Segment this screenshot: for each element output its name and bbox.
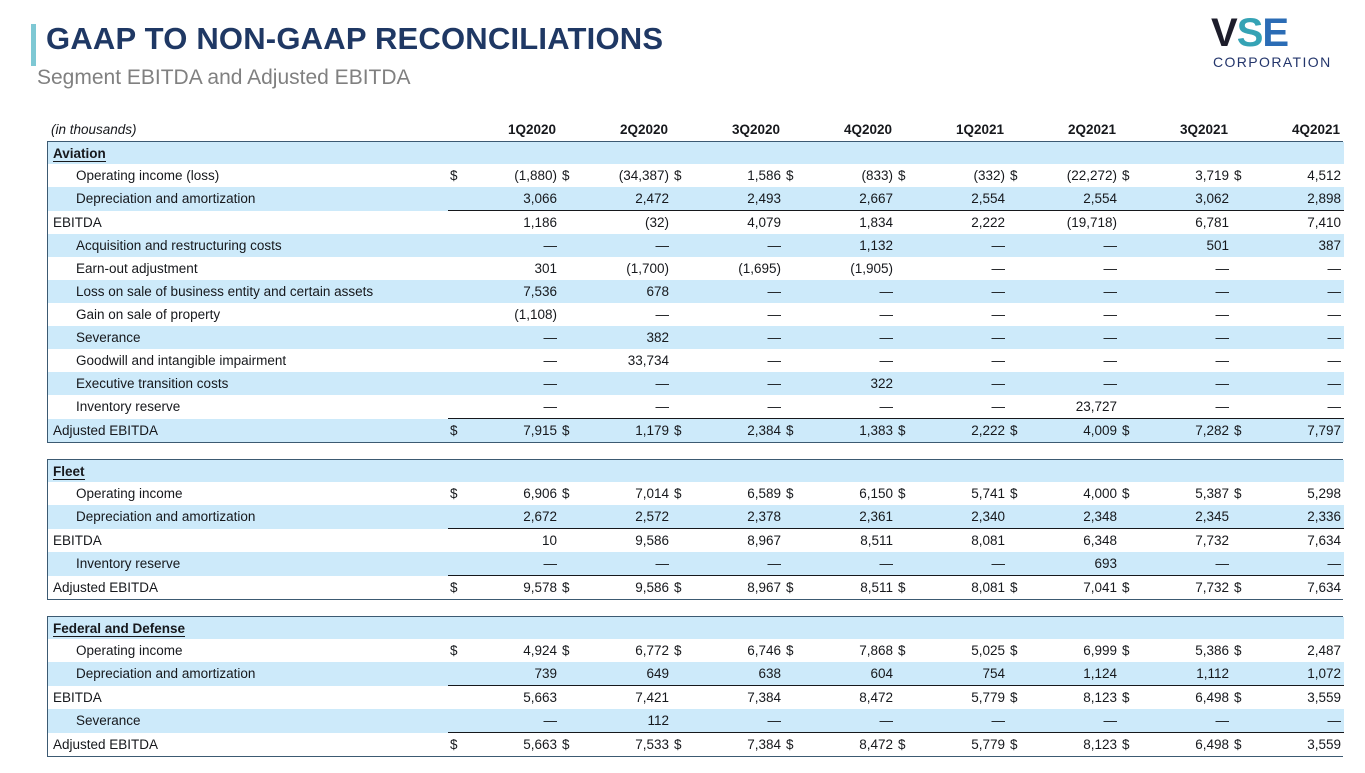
- currency-symbol-1Q2021: [896, 395, 922, 419]
- table-row: Adjusted EBITDA$9,578$9,586$8,967$8,511$…: [48, 576, 1344, 600]
- cell-2Q2020: 382: [586, 326, 672, 349]
- currency-symbol-2Q2020: [560, 395, 586, 419]
- currency-symbol-3Q2020: [672, 349, 698, 372]
- cell-2Q2021: 4,000: [1034, 482, 1120, 505]
- cell-2Q2021: —: [1034, 372, 1120, 395]
- currency-symbol-1Q2021: [896, 552, 922, 576]
- cell-1Q2020: (1,108): [474, 303, 560, 326]
- section-title-row: Aviation: [48, 142, 1344, 164]
- currency-symbol-2Q2021: $: [1008, 164, 1034, 187]
- section-title-pad-n-0: [474, 142, 560, 164]
- currency-symbol-3Q2020: [672, 686, 698, 710]
- cell-1Q2021: —: [922, 552, 1008, 576]
- section-title-pad-n-0: [474, 460, 560, 482]
- currency-symbol-4Q2021: [1232, 552, 1258, 576]
- cell-3Q2021: —: [1146, 349, 1232, 372]
- currency-symbol-1Q2021: [896, 257, 922, 280]
- logo-letter-s: S: [1237, 11, 1263, 55]
- col-header-1Q2020: 1Q2020: [473, 112, 559, 141]
- currency-symbol-4Q2021: [1232, 662, 1258, 686]
- currency-symbol-4Q2021: [1232, 395, 1258, 419]
- cell-1Q2020: 10: [474, 529, 560, 553]
- currency-symbol-1Q2020: [448, 303, 474, 326]
- currency-symbol-4Q2021: [1232, 187, 1258, 211]
- currency-symbol-4Q2020: [784, 552, 810, 576]
- cell-1Q2021: 5,779: [922, 686, 1008, 710]
- cell-2Q2021: —: [1034, 326, 1120, 349]
- cell-4Q2021: 2,336: [1258, 505, 1344, 529]
- currency-symbol-1Q2021: [896, 326, 922, 349]
- currency-symbol-1Q2021: [896, 505, 922, 529]
- currency-symbol-2Q2021: [1008, 187, 1034, 211]
- currency-symbol-3Q2021: [1120, 303, 1146, 326]
- cell-1Q2020: 2,672: [474, 505, 560, 529]
- currency-symbol-3Q2020: $: [672, 164, 698, 187]
- currency-symbol-1Q2020: $: [448, 482, 474, 505]
- currency-symbol-3Q2020: [672, 662, 698, 686]
- cell-4Q2021: 4,512: [1258, 164, 1344, 187]
- section-title-pad-4: [896, 142, 922, 164]
- currency-symbol-1Q2021: $: [896, 639, 922, 662]
- row-label: Loss on sale of business entity and cert…: [48, 280, 448, 303]
- currency-symbol-4Q2020: $: [784, 639, 810, 662]
- cell-2Q2021: 4,009: [1034, 419, 1120, 443]
- cell-2Q2020: (1,700): [586, 257, 672, 280]
- currency-symbol-2Q2021: [1008, 234, 1034, 257]
- col-header-spacer-1: [559, 112, 585, 141]
- currency-symbol-1Q2021: [896, 709, 922, 733]
- currency-symbol-4Q2021: [1232, 211, 1258, 235]
- cell-1Q2021: 2,222: [922, 419, 1008, 443]
- row-label: Goodwill and intangible impairment: [48, 349, 448, 372]
- currency-symbol-1Q2020: [448, 505, 474, 529]
- currency-symbol-2Q2020: [560, 505, 586, 529]
- cell-4Q2021: 7,410: [1258, 211, 1344, 235]
- col-header-2Q2021: 2Q2021: [1033, 112, 1119, 141]
- cell-3Q2020: —: [698, 372, 784, 395]
- section-title: Aviation: [48, 142, 448, 164]
- currency-symbol-2Q2020: $: [560, 419, 586, 443]
- row-label: Acquisition and restructuring costs: [48, 234, 448, 257]
- cell-2Q2020: 2,572: [586, 505, 672, 529]
- section-title-pad-7: [1232, 460, 1258, 482]
- section-title: Federal and Defense: [48, 617, 448, 639]
- currency-symbol-2Q2021: $: [1008, 686, 1034, 710]
- currency-symbol-2Q2021: $: [1008, 482, 1034, 505]
- currency-symbol-1Q2020: [448, 395, 474, 419]
- section-title-pad-6: [1120, 460, 1146, 482]
- currency-symbol-3Q2021: $: [1120, 686, 1146, 710]
- cell-1Q2021: (332): [922, 164, 1008, 187]
- currency-symbol-1Q2021: $: [896, 733, 922, 757]
- currency-symbol-1Q2020: [448, 709, 474, 733]
- row-label: Depreciation and amortization: [48, 187, 448, 211]
- currency-symbol-1Q2021: [896, 529, 922, 553]
- cell-4Q2021: 387: [1258, 234, 1344, 257]
- cell-3Q2021: —: [1146, 280, 1232, 303]
- section-title-pad-n-3: [810, 460, 896, 482]
- cell-3Q2021: 5,387: [1146, 482, 1232, 505]
- cell-3Q2021: —: [1146, 257, 1232, 280]
- table-row: Severance—112——————: [48, 709, 1344, 733]
- cell-1Q2021: —: [922, 234, 1008, 257]
- currency-symbol-1Q2020: $: [448, 164, 474, 187]
- cell-1Q2020: 6,906: [474, 482, 560, 505]
- cell-2Q2020: —: [586, 303, 672, 326]
- currency-symbol-3Q2021: [1120, 211, 1146, 235]
- currency-symbol-4Q2020: [784, 372, 810, 395]
- table-row: Acquisition and restructuring costs———1,…: [48, 234, 1344, 257]
- currency-symbol-2Q2020: $: [560, 733, 586, 757]
- cell-1Q2021: —: [922, 280, 1008, 303]
- section-title-pad-n-4: [922, 617, 1008, 639]
- cell-4Q2021: —: [1258, 349, 1344, 372]
- currency-symbol-4Q2021: $: [1232, 639, 1258, 662]
- section-title-pad-0: [448, 460, 474, 482]
- currency-symbol-4Q2021: [1232, 257, 1258, 280]
- cell-4Q2021: 2,898: [1258, 187, 1344, 211]
- currency-symbol-3Q2020: [672, 280, 698, 303]
- cell-4Q2021: 5,298: [1258, 482, 1344, 505]
- currency-symbol-1Q2020: [448, 326, 474, 349]
- page-title: GAAP TO NON-GAAP RECONCILIATIONS: [46, 21, 663, 57]
- cell-3Q2020: 2,384: [698, 419, 784, 443]
- section-title-pad-6: [1120, 142, 1146, 164]
- cell-3Q2020: —: [698, 280, 784, 303]
- currency-symbol-4Q2021: $: [1232, 482, 1258, 505]
- cell-3Q2021: 2,345: [1146, 505, 1232, 529]
- cell-1Q2021: —: [922, 303, 1008, 326]
- cell-3Q2021: 501: [1146, 234, 1232, 257]
- table-row: EBITDA1,186(32)4,0791,8342,222(19,718)6,…: [48, 211, 1344, 235]
- section-title-pad-7: [1232, 142, 1258, 164]
- cell-3Q2020: 2,493: [698, 187, 784, 211]
- cell-3Q2020: 6,746: [698, 639, 784, 662]
- section-title-pad-n-5: [1034, 617, 1120, 639]
- cell-2Q2020: 1,179: [586, 419, 672, 443]
- cell-3Q2021: 1,112: [1146, 662, 1232, 686]
- section-title-pad-n-5: [1034, 460, 1120, 482]
- table-row: Loss on sale of business entity and cert…: [48, 280, 1344, 303]
- cell-1Q2020: 9,578: [474, 576, 560, 600]
- currency-symbol-2Q2020: [560, 552, 586, 576]
- cell-1Q2020: 7,536: [474, 280, 560, 303]
- cell-2Q2020: —: [586, 234, 672, 257]
- cell-4Q2020: 604: [810, 662, 896, 686]
- currency-symbol-1Q2020: $: [448, 639, 474, 662]
- row-label: EBITDA: [48, 686, 448, 710]
- table-row: Gain on sale of property(1,108)———————: [48, 303, 1344, 326]
- currency-symbol-3Q2021: $: [1120, 733, 1146, 757]
- col-header-spacer-7: [1231, 112, 1257, 141]
- currency-symbol-3Q2021: [1120, 662, 1146, 686]
- section-title-pad-n-6: [1146, 142, 1232, 164]
- cell-2Q2021: 693: [1034, 552, 1120, 576]
- cell-3Q2021: 7,732: [1146, 529, 1232, 553]
- cell-2Q2020: 9,586: [586, 576, 672, 600]
- section-title-pad-3: [784, 460, 810, 482]
- section-title-pad-n-3: [810, 617, 896, 639]
- currency-symbol-4Q2021: $: [1232, 686, 1258, 710]
- cell-1Q2020: 4,924: [474, 639, 560, 662]
- cell-3Q2021: 7,282: [1146, 419, 1232, 443]
- cell-1Q2020: —: [474, 326, 560, 349]
- currency-symbol-4Q2021: [1232, 303, 1258, 326]
- currency-symbol-4Q2020: [784, 662, 810, 686]
- currency-symbol-4Q2020: [784, 187, 810, 211]
- cell-1Q2020: 3,066: [474, 187, 560, 211]
- cell-4Q2020: 1,383: [810, 419, 896, 443]
- currency-symbol-3Q2021: $: [1120, 419, 1146, 443]
- section-title-pad-n-2: [698, 617, 784, 639]
- cell-1Q2020: 7,915: [474, 419, 560, 443]
- currency-symbol-4Q2021: [1232, 709, 1258, 733]
- cell-2Q2020: 7,533: [586, 733, 672, 757]
- currency-symbol-2Q2021: [1008, 395, 1034, 419]
- currency-symbol-3Q2020: [672, 529, 698, 553]
- col-header-spacer-4: [895, 112, 921, 141]
- currency-symbol-3Q2021: [1120, 552, 1146, 576]
- table-row: Inventory reserve—————693——: [48, 552, 1344, 576]
- cell-3Q2020: 2,378: [698, 505, 784, 529]
- cell-3Q2021: 3,719: [1146, 164, 1232, 187]
- currency-symbol-2Q2021: $: [1008, 419, 1034, 443]
- vse-corporation-logo: VSE CORPORATION: [1197, 12, 1347, 74]
- cell-2Q2020: 2,472: [586, 187, 672, 211]
- cell-1Q2020: —: [474, 395, 560, 419]
- section-title-pad-0: [448, 142, 474, 164]
- currency-symbol-4Q2020: $: [784, 482, 810, 505]
- cell-2Q2021: 2,554: [1034, 187, 1120, 211]
- currency-symbol-1Q2021: [896, 234, 922, 257]
- section-title-pad-1: [560, 460, 586, 482]
- cell-4Q2021: —: [1258, 552, 1344, 576]
- currency-symbol-1Q2020: [448, 280, 474, 303]
- cell-4Q2020: 8,511: [810, 529, 896, 553]
- section-title: Fleet: [48, 460, 448, 482]
- currency-symbol-2Q2020: [560, 211, 586, 235]
- row-label: Inventory reserve: [48, 552, 448, 576]
- cell-3Q2020: —: [698, 303, 784, 326]
- currency-symbol-2Q2020: $: [560, 639, 586, 662]
- col-header-spacer-0: [447, 112, 473, 141]
- logo-letters: VSE: [1211, 12, 1288, 54]
- cell-3Q2020: 1,586: [698, 164, 784, 187]
- cell-3Q2021: —: [1146, 372, 1232, 395]
- section-title-pad-0: [448, 617, 474, 639]
- row-label: Depreciation and amortization: [48, 505, 448, 529]
- currency-symbol-2Q2020: [560, 709, 586, 733]
- section-title-pad-n-5: [1034, 142, 1120, 164]
- currency-symbol-4Q2020: $: [784, 733, 810, 757]
- currency-symbol-3Q2021: $: [1120, 164, 1146, 187]
- currency-symbol-3Q2020: [672, 257, 698, 280]
- currency-symbol-4Q2020: $: [784, 576, 810, 600]
- currency-symbol-4Q2020: [784, 211, 810, 235]
- cell-4Q2020: 6,150: [810, 482, 896, 505]
- cell-4Q2020: 8,472: [810, 686, 896, 710]
- section-title-pad-5: [1008, 617, 1034, 639]
- cell-2Q2020: 6,772: [586, 639, 672, 662]
- cell-2Q2020: 678: [586, 280, 672, 303]
- cell-3Q2021: 6,498: [1146, 733, 1232, 757]
- currency-symbol-1Q2020: [448, 234, 474, 257]
- cell-4Q2021: —: [1258, 326, 1344, 349]
- section-title-pad-n-6: [1146, 460, 1232, 482]
- currency-symbol-4Q2021: [1232, 326, 1258, 349]
- cell-3Q2020: —: [698, 552, 784, 576]
- cell-3Q2020: (1,695): [698, 257, 784, 280]
- currency-symbol-4Q2020: [784, 303, 810, 326]
- cell-3Q2021: —: [1146, 552, 1232, 576]
- cell-3Q2020: 7,384: [698, 686, 784, 710]
- section-title-pad-n-7: [1258, 617, 1344, 639]
- cell-1Q2021: 2,554: [922, 187, 1008, 211]
- cell-2Q2020: 33,734: [586, 349, 672, 372]
- reconciliation-sheet: (in thousands)1Q20202Q20203Q20204Q20201Q…: [47, 112, 1343, 773]
- cell-4Q2021: —: [1258, 395, 1344, 419]
- currency-symbol-3Q2021: [1120, 349, 1146, 372]
- cell-2Q2020: —: [586, 552, 672, 576]
- cell-4Q2021: —: [1258, 709, 1344, 733]
- section-title-row: Federal and Defense: [48, 617, 1344, 639]
- currency-symbol-4Q2021: $: [1232, 733, 1258, 757]
- col-header-spacer-3: [783, 112, 809, 141]
- section-title-pad-4: [896, 460, 922, 482]
- currency-symbol-2Q2021: [1008, 280, 1034, 303]
- logo-wordmark: CORPORATION: [1213, 54, 1332, 70]
- cell-4Q2021: —: [1258, 257, 1344, 280]
- currency-symbol-4Q2021: $: [1232, 576, 1258, 600]
- currency-symbol-1Q2020: [448, 349, 474, 372]
- currency-symbol-1Q2021: [896, 303, 922, 326]
- cell-1Q2020: —: [474, 709, 560, 733]
- currency-symbol-1Q2020: [448, 372, 474, 395]
- table-row: Adjusted EBITDA$5,663$7,533$7,384$8,472$…: [48, 733, 1344, 757]
- currency-symbol-1Q2020: $: [448, 419, 474, 443]
- cell-4Q2020: 8,472: [810, 733, 896, 757]
- currency-symbol-2Q2021: [1008, 662, 1034, 686]
- currency-symbol-3Q2021: [1120, 187, 1146, 211]
- currency-symbol-2Q2021: [1008, 372, 1034, 395]
- cell-3Q2020: —: [698, 395, 784, 419]
- currency-symbol-4Q2020: $: [784, 419, 810, 443]
- section-title-pad-n-1: [586, 617, 672, 639]
- section-title-pad-n-7: [1258, 460, 1344, 482]
- currency-symbol-3Q2020: [672, 187, 698, 211]
- cell-3Q2021: 5,386: [1146, 639, 1232, 662]
- cell-4Q2020: —: [810, 303, 896, 326]
- cell-2Q2021: —: [1034, 709, 1120, 733]
- currency-symbol-4Q2020: [784, 395, 810, 419]
- currency-symbol-4Q2021: [1232, 529, 1258, 553]
- row-label: Earn-out adjustment: [48, 257, 448, 280]
- section-title-row: Fleet: [48, 460, 1344, 482]
- cell-4Q2021: —: [1258, 303, 1344, 326]
- section-title-pad-3: [784, 617, 810, 639]
- currency-symbol-3Q2021: [1120, 326, 1146, 349]
- cell-3Q2020: 4,079: [698, 211, 784, 235]
- currency-symbol-1Q2021: $: [896, 419, 922, 443]
- currency-symbol-4Q2020: [784, 349, 810, 372]
- cell-4Q2021: —: [1258, 280, 1344, 303]
- cell-2Q2020: (34,387): [586, 164, 672, 187]
- section-title-pad-n-7: [1258, 142, 1344, 164]
- currency-symbol-3Q2021: [1120, 372, 1146, 395]
- currency-symbol-3Q2020: $: [672, 482, 698, 505]
- column-header-row: (in thousands)1Q20202Q20203Q20204Q20201Q…: [47, 112, 1343, 141]
- row-label: Operating income (loss): [48, 164, 448, 187]
- cell-3Q2021: —: [1146, 303, 1232, 326]
- section-title-pad-6: [1120, 617, 1146, 639]
- currency-symbol-1Q2021: [896, 187, 922, 211]
- currency-symbol-1Q2021: [896, 662, 922, 686]
- cell-1Q2020: 1,186: [474, 211, 560, 235]
- currency-symbol-3Q2021: [1120, 257, 1146, 280]
- cell-3Q2021: —: [1146, 709, 1232, 733]
- currency-symbol-1Q2020: [448, 257, 474, 280]
- currency-symbol-1Q2021: [896, 686, 922, 710]
- cell-4Q2020: 2,361: [810, 505, 896, 529]
- table-row: Operating income$6,906$7,014$6,589$6,150…: [48, 482, 1344, 505]
- row-label: EBITDA: [48, 529, 448, 553]
- currency-symbol-3Q2021: [1120, 280, 1146, 303]
- currency-symbol-3Q2020: [672, 552, 698, 576]
- cell-2Q2021: —: [1034, 280, 1120, 303]
- cell-4Q2020: —: [810, 395, 896, 419]
- cell-1Q2021: 5,025: [922, 639, 1008, 662]
- currency-symbol-1Q2020: [448, 211, 474, 235]
- cell-2Q2021: (19,718): [1034, 211, 1120, 235]
- cell-2Q2021: 7,041: [1034, 576, 1120, 600]
- row-label: Severance: [48, 709, 448, 733]
- section-aviation: AviationOperating income (loss)$(1,880)$…: [47, 141, 1343, 443]
- currency-symbol-3Q2020: [672, 211, 698, 235]
- section-title-pad-5: [1008, 460, 1034, 482]
- cell-3Q2020: 7,384: [698, 733, 784, 757]
- currency-symbol-1Q2021: [896, 372, 922, 395]
- cell-4Q2021: 7,634: [1258, 529, 1344, 553]
- table-row: Operating income$4,924$6,772$6,746$7,868…: [48, 639, 1344, 662]
- row-label: Gain on sale of property: [48, 303, 448, 326]
- currency-symbol-2Q2021: [1008, 326, 1034, 349]
- cell-1Q2020: —: [474, 234, 560, 257]
- col-header-spacer-5: [1007, 112, 1033, 141]
- row-label: Severance: [48, 326, 448, 349]
- cell-1Q2021: 5,779: [922, 733, 1008, 757]
- currency-symbol-2Q2021: [1008, 211, 1034, 235]
- cell-1Q2020: —: [474, 552, 560, 576]
- cell-2Q2021: —: [1034, 303, 1120, 326]
- section-title-pad-n-4: [922, 460, 1008, 482]
- currency-symbol-1Q2020: [448, 662, 474, 686]
- currency-symbol-2Q2021: [1008, 257, 1034, 280]
- currency-symbol-2Q2020: [560, 326, 586, 349]
- currency-symbol-2Q2020: $: [560, 164, 586, 187]
- cell-4Q2021: 1,072: [1258, 662, 1344, 686]
- cell-4Q2021: 7,634: [1258, 576, 1344, 600]
- cell-1Q2020: —: [474, 349, 560, 372]
- currency-symbol-1Q2020: [448, 552, 474, 576]
- cell-3Q2021: 6,498: [1146, 686, 1232, 710]
- col-header-2Q2020: 2Q2020: [585, 112, 671, 141]
- currency-symbol-3Q2020: [672, 234, 698, 257]
- row-label: Operating income: [48, 639, 448, 662]
- currency-symbol-2Q2020: [560, 303, 586, 326]
- currency-symbol-4Q2020: [784, 280, 810, 303]
- table-row: Depreciation and amortization2,6722,5722…: [48, 505, 1344, 529]
- currency-symbol-4Q2020: [784, 234, 810, 257]
